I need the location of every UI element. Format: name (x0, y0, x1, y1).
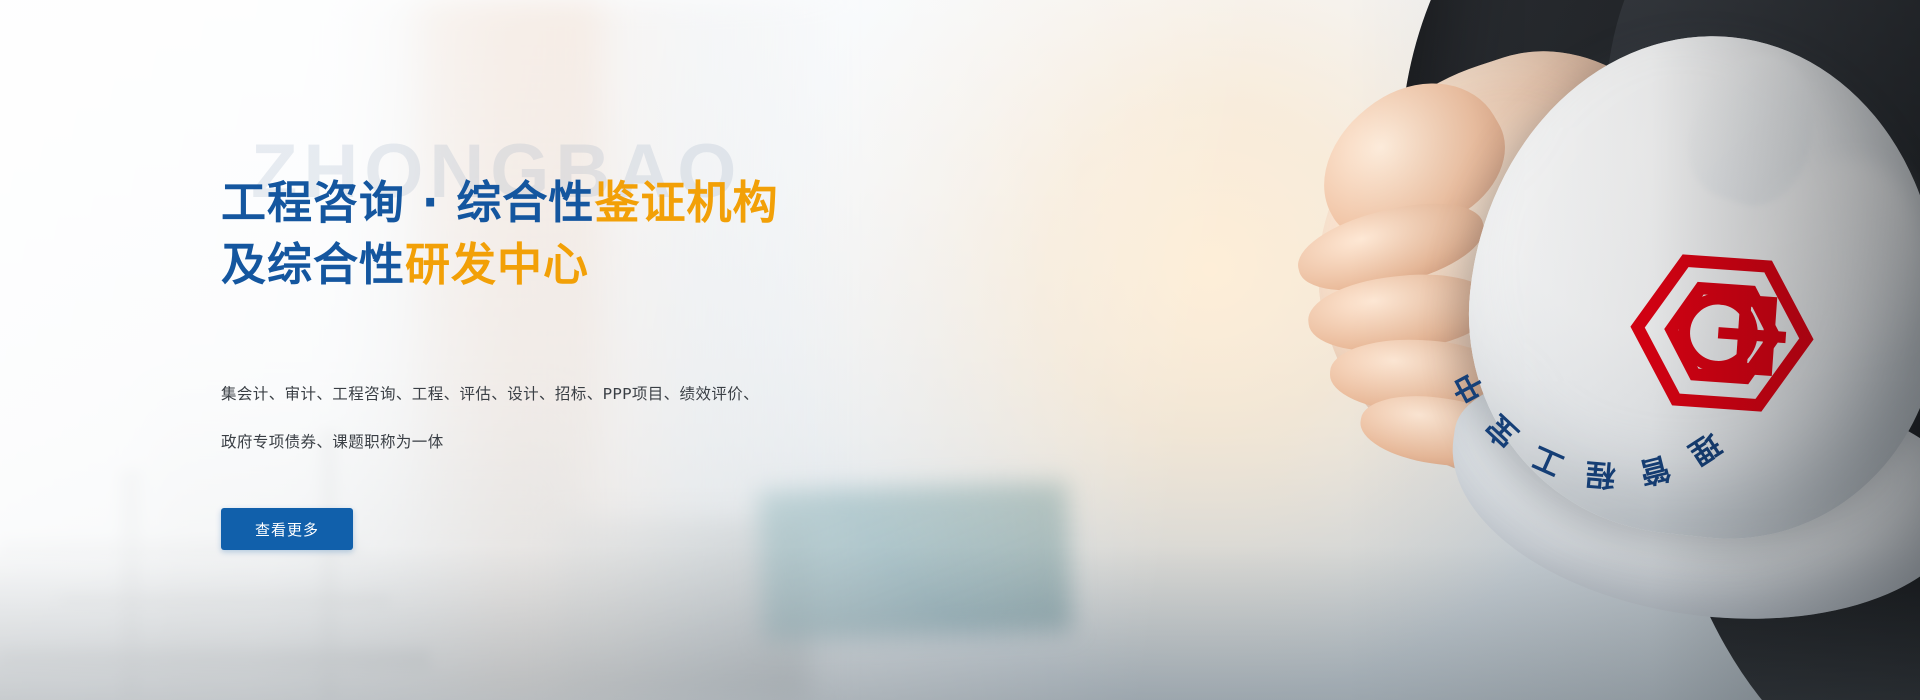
headline-line-1: 工程咨询 · 综合性鉴证机构 (221, 172, 1021, 234)
hero-headline: 工程咨询 · 综合性鉴证机构 及综合性研发中心 (221, 172, 1021, 296)
hero-copy: ZHONGBAO 工程咨询 · 综合性鉴证机构 及综合性研发中心 集会计、审计、… (221, 0, 1061, 700)
description-line-2: 政府专项债券、课题职称为一体 (221, 418, 821, 466)
headline-line-2-blue: 及综合性 (221, 238, 405, 291)
description-line-1: 集会计、审计、工程咨询、工程、评估、设计、招标、PPP项目、绩效评价、 (221, 370, 821, 418)
view-more-button[interactable]: 查看更多 (221, 508, 353, 550)
headline-line-1-blue: 工程咨询 · 综合性 (221, 176, 594, 229)
headline-line-2-orange: 研发中心 (405, 238, 589, 291)
hero-banner: 中宝工程管理 ZHONGBAO (0, 0, 1920, 700)
headline-line-2: 及综合性研发中心 (221, 234, 1021, 296)
hero-description: 集会计、审计、工程咨询、工程、评估、设计、招标、PPP项目、绩效评价、 政府专项… (221, 370, 821, 466)
headline-line-1-orange: 鉴证机构 (594, 176, 778, 229)
